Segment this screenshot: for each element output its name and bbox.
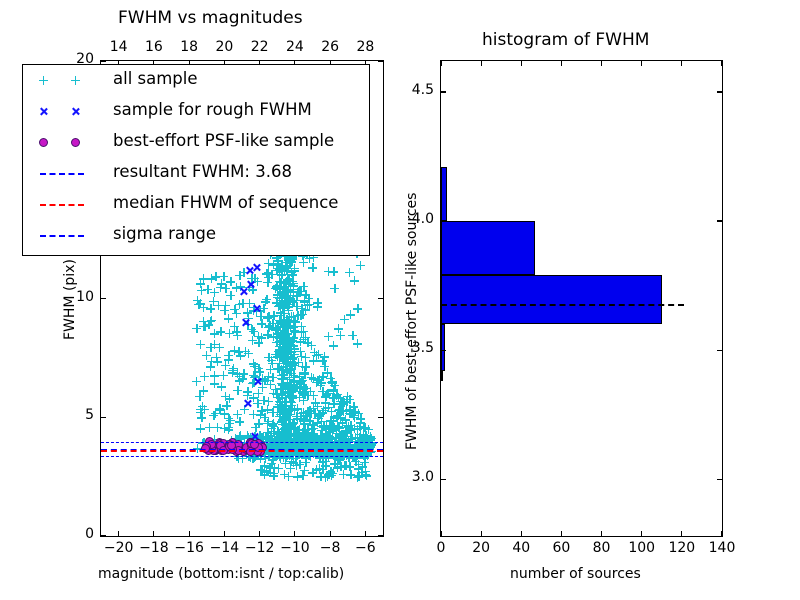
- x-tick-label-bottom: −12: [244, 540, 276, 556]
- all-sample-point: [270, 463, 279, 472]
- all-sample-point: [278, 332, 287, 341]
- all-sample-point: [267, 424, 276, 433]
- all-sample-point: [287, 398, 296, 407]
- x-tick-label-bottom: −14: [208, 540, 240, 556]
- all-sample-point: [353, 433, 362, 442]
- all-sample-point: [286, 296, 295, 305]
- all-sample-point: [260, 470, 269, 479]
- all-sample-point: [286, 347, 295, 356]
- all-sample-point: [280, 424, 289, 433]
- all-sample-point: [278, 432, 287, 441]
- all-sample-point: [341, 426, 350, 435]
- all-sample-point: [290, 266, 299, 275]
- all-sample-point: [294, 436, 303, 445]
- all-sample-point: [277, 371, 286, 380]
- all-sample-point: [315, 464, 324, 473]
- all-sample-point: [321, 473, 330, 482]
- all-sample-point: [285, 429, 294, 438]
- x-tick-label-bottom: −18: [138, 540, 170, 556]
- all-sample-point: [277, 319, 286, 328]
- all-sample-point: [275, 264, 284, 273]
- all-sample-point: [322, 422, 331, 431]
- all-sample-point: [269, 260, 278, 269]
- all-sample-point: [330, 459, 339, 468]
- all-sample-point: [290, 350, 299, 359]
- all-sample-point: [229, 364, 238, 373]
- all-sample-point: [281, 404, 290, 413]
- all-sample-point: [273, 436, 282, 445]
- all-sample-point: [244, 433, 253, 442]
- all-sample-point: [276, 348, 285, 357]
- x-tick-bottom: [224, 531, 225, 536]
- all-sample-point: [249, 393, 258, 402]
- all-sample-point: [277, 270, 286, 279]
- hist-y-tick-right: [717, 220, 722, 221]
- all-sample-point: [285, 437, 294, 446]
- all-sample-point: [278, 374, 287, 383]
- all-sample-point: [280, 297, 289, 306]
- all-sample-point: [282, 320, 291, 329]
- all-sample-point: [302, 411, 311, 420]
- all-sample-point: [282, 439, 291, 448]
- all-sample-point: [268, 359, 277, 368]
- all-sample-point: [331, 433, 340, 442]
- all-sample-point: [340, 432, 349, 441]
- all-sample-point: [282, 277, 291, 286]
- all-sample-point: [285, 436, 294, 445]
- all-sample-point: [322, 429, 331, 438]
- all-sample-point: [308, 468, 317, 477]
- all-sample-point: [300, 415, 309, 424]
- hist-x-tick: [561, 531, 562, 536]
- all-sample-point: [290, 344, 299, 353]
- y-tick-left: [101, 417, 106, 418]
- all-sample-point: [196, 405, 205, 414]
- all-sample-point: [289, 291, 298, 300]
- all-sample-point: [272, 266, 281, 275]
- all-sample-point: [282, 404, 291, 413]
- x-tick-bottom: [365, 531, 366, 536]
- all-sample-point: [328, 393, 337, 402]
- all-sample-point: [288, 391, 297, 400]
- all-sample-point: [278, 415, 287, 424]
- all-sample-point: [322, 432, 331, 441]
- all-sample-point: [284, 385, 293, 394]
- all-sample-point: [283, 389, 292, 398]
- all-sample-point: [310, 348, 319, 357]
- all-sample-point: [301, 425, 310, 434]
- all-sample-point: [249, 359, 258, 368]
- all-sample-point: [362, 471, 371, 480]
- all-sample-point: [323, 389, 332, 398]
- all-sample-point: [281, 331, 290, 340]
- all-sample-point: [256, 312, 265, 321]
- all-sample-point: [313, 418, 322, 427]
- all-sample-point: [196, 299, 205, 308]
- all-sample-point: [285, 298, 294, 307]
- all-sample-point: [338, 418, 347, 427]
- all-sample-point: [317, 417, 326, 426]
- all-sample-point: [328, 469, 337, 478]
- all-sample-point: [275, 397, 284, 406]
- all-sample-point: [289, 358, 298, 367]
- x-tick-label-bottom: −20: [103, 540, 135, 556]
- all-sample-point: [280, 356, 289, 365]
- all-sample-point: [341, 432, 350, 441]
- all-sample-point: [219, 272, 228, 281]
- all-sample-point: [309, 429, 318, 438]
- legend-marker-line: [40, 235, 84, 237]
- all-sample-point: [283, 293, 292, 302]
- all-sample-point: [318, 372, 327, 381]
- all-sample-point: [313, 433, 322, 442]
- all-sample-point: [337, 430, 346, 439]
- all-sample-point: [336, 431, 345, 440]
- all-sample-point: [224, 314, 233, 323]
- all-sample-point: [285, 336, 294, 345]
- all-sample-point: [295, 393, 304, 402]
- all-sample-point: [333, 411, 342, 420]
- all-sample-point: [287, 381, 296, 390]
- all-sample-point: [285, 393, 294, 402]
- all-sample-point: [313, 298, 322, 307]
- all-sample-point: [248, 336, 257, 345]
- all-sample-point: [297, 432, 306, 441]
- all-sample-point: [338, 397, 347, 406]
- all-sample-point: [204, 320, 213, 329]
- figure-canvas: FWHM vs magnitudes −20−18−16−14−12−10−8−…: [0, 0, 800, 600]
- all-sample-point: [225, 394, 234, 403]
- all-sample-point: [299, 408, 308, 417]
- all-sample-point: [197, 413, 206, 422]
- hist-y-tick-label: 4.5: [399, 82, 434, 98]
- all-sample-point: [221, 392, 230, 401]
- all-sample-point: [296, 310, 305, 319]
- all-sample-point: [354, 439, 363, 448]
- x-tick-label-bottom: −8: [314, 540, 346, 556]
- all-sample-point: [294, 358, 303, 367]
- all-sample-point: [266, 365, 275, 374]
- all-sample-point: [348, 331, 357, 340]
- all-sample-point: [345, 425, 354, 434]
- all-sample-point: [207, 357, 216, 366]
- all-sample-point: [309, 424, 318, 433]
- all-sample-point: [355, 422, 364, 431]
- all-sample-point: [269, 427, 278, 436]
- all-sample-point: [286, 366, 295, 375]
- all-sample-point: [285, 313, 294, 322]
- all-sample-point: [254, 338, 263, 347]
- all-sample-point: [302, 436, 311, 445]
- all-sample-point: [342, 429, 351, 438]
- all-sample-point: [297, 328, 306, 337]
- all-sample-point: [303, 391, 312, 400]
- all-sample-point: [207, 316, 216, 325]
- all-sample-point: [356, 418, 365, 427]
- all-sample-point: [279, 404, 288, 413]
- all-sample-point: [304, 433, 313, 442]
- all-sample-point: [355, 433, 364, 442]
- all-sample-point: [224, 414, 233, 423]
- all-sample-point: [294, 428, 303, 437]
- all-sample-point: [335, 456, 344, 465]
- all-sample-point: [249, 453, 258, 462]
- right-xlabel: number of sources: [510, 566, 641, 582]
- all-sample-point: [323, 431, 332, 440]
- all-sample-point: [345, 409, 354, 418]
- all-sample-point: [284, 306, 293, 315]
- all-sample-point: [282, 404, 291, 413]
- all-sample-point: [319, 433, 328, 442]
- all-sample-point: [240, 405, 249, 414]
- all-sample-point: [277, 427, 286, 436]
- all-sample-point: [277, 296, 286, 305]
- all-sample-point: [251, 439, 260, 448]
- all-sample-point: [301, 290, 310, 299]
- all-sample-point: [217, 382, 226, 391]
- all-sample-point: [289, 384, 298, 393]
- all-sample-point: [285, 431, 294, 440]
- all-sample-point: [286, 321, 295, 330]
- y-tick-label: 0: [61, 526, 94, 542]
- all-sample-point: [299, 335, 308, 344]
- all-sample-point: [317, 431, 326, 440]
- psf-like-point: [219, 439, 228, 448]
- y-tick-left: [101, 298, 106, 299]
- all-sample-point: [267, 270, 276, 279]
- all-sample-point: [277, 390, 286, 399]
- all-sample-point: [329, 399, 338, 408]
- all-sample-point: [232, 327, 241, 336]
- all-sample-point: [283, 382, 292, 391]
- hist-y-tick: [441, 91, 446, 92]
- all-sample-point: [279, 315, 288, 324]
- all-sample-point: [199, 303, 208, 312]
- all-sample-point: [250, 373, 259, 382]
- all-sample-point: [279, 282, 288, 291]
- all-sample-point: [196, 408, 205, 417]
- all-sample-point: [299, 425, 308, 434]
- legend-item: sample for rough FWHM: [23, 96, 369, 127]
- all-sample-point: [318, 457, 327, 466]
- all-sample-point: [351, 457, 360, 466]
- all-sample-point: [275, 365, 284, 374]
- all-sample-point: [284, 295, 293, 304]
- all-sample-point: [273, 285, 282, 294]
- all-sample-point: [332, 413, 341, 422]
- all-sample-point: [256, 465, 265, 474]
- all-sample-point: [228, 366, 237, 375]
- all-sample-point: [289, 317, 298, 326]
- all-sample-point: [299, 385, 308, 394]
- all-sample-point: [290, 264, 299, 273]
- legend-label: sigma range: [113, 224, 216, 243]
- all-sample-point: [339, 439, 348, 448]
- all-sample-point: [283, 426, 292, 435]
- all-sample-point: [318, 356, 327, 365]
- all-sample-point: [340, 315, 349, 324]
- all-sample-point: [344, 453, 353, 462]
- x-tick-label-bottom: −6: [349, 540, 381, 556]
- all-sample-point: [287, 361, 296, 370]
- all-sample-point: [334, 423, 343, 432]
- histogram-bar: [441, 167, 447, 221]
- legend-marker-plus: [39, 76, 48, 85]
- all-sample-point: [300, 368, 309, 377]
- all-sample-point: [316, 433, 325, 442]
- hist-x-tick: [681, 531, 682, 536]
- all-sample-point: [316, 431, 325, 440]
- all-sample-point: [271, 284, 280, 293]
- all-sample-point: [303, 338, 312, 347]
- all-sample-point: [276, 384, 285, 393]
- all-sample-point: [312, 378, 321, 387]
- all-sample-point: [329, 393, 338, 402]
- all-sample-point: [341, 415, 350, 424]
- all-sample-point: [238, 299, 247, 308]
- psf-like-point: [234, 440, 243, 449]
- all-sample-point: [274, 464, 283, 473]
- all-sample-point: [198, 402, 207, 411]
- all-sample-point: [284, 420, 293, 429]
- all-sample-point: [279, 351, 288, 360]
- all-sample-point: [279, 365, 288, 374]
- hist-x-tick: [481, 531, 482, 536]
- all-sample-point: [283, 261, 292, 270]
- all-sample-point: [337, 406, 346, 415]
- all-sample-point: [281, 258, 290, 267]
- all-sample-point: [364, 439, 373, 448]
- all-sample-point: [318, 465, 327, 474]
- all-sample-point: [327, 471, 336, 480]
- all-sample-point: [300, 434, 309, 443]
- all-sample-point: [305, 416, 314, 425]
- all-sample-point: [341, 461, 350, 470]
- all-sample-point: [342, 421, 351, 430]
- all-sample-point: [266, 380, 275, 389]
- hist-y-tick: [441, 220, 446, 221]
- all-sample-point: [279, 354, 288, 363]
- hist-x-tick: [601, 531, 602, 536]
- x-tick-bottom: [153, 531, 154, 536]
- all-sample-point: [278, 351, 287, 360]
- all-sample-point: [331, 433, 340, 442]
- all-sample-point: [283, 428, 292, 437]
- all-sample-point: [293, 414, 302, 423]
- all-sample-point: [354, 472, 363, 481]
- all-sample-point: [336, 462, 345, 471]
- all-sample-point: [272, 325, 281, 334]
- all-sample-point: [262, 467, 271, 476]
- all-sample-point: [224, 423, 233, 432]
- all-sample-point: [281, 344, 290, 353]
- all-sample-point: [283, 357, 292, 366]
- all-sample-point: [289, 281, 298, 290]
- all-sample-point: [336, 413, 345, 422]
- all-sample-point: [297, 433, 306, 442]
- all-sample-point: [280, 402, 289, 411]
- all-sample-point: [263, 419, 272, 428]
- all-sample-point: [276, 436, 285, 445]
- all-sample-point: [245, 299, 254, 308]
- all-sample-point: [324, 439, 333, 448]
- all-sample-point: [300, 369, 309, 378]
- all-sample-point: [275, 337, 284, 346]
- all-sample-point: [310, 409, 319, 418]
- hist-y-tick: [441, 479, 446, 480]
- all-sample-point: [329, 416, 338, 425]
- legend-marker-dot: [39, 138, 48, 147]
- all-sample-point: [282, 411, 291, 420]
- all-sample-point: [303, 436, 312, 445]
- all-sample-point: [210, 329, 219, 338]
- all-sample-point: [284, 423, 293, 432]
- all-sample-point: [292, 439, 301, 448]
- all-sample-point: [261, 432, 270, 441]
- all-sample-point: [307, 341, 316, 350]
- all-sample-point: [309, 374, 318, 383]
- all-sample-point: [192, 324, 201, 333]
- all-sample-point: [286, 410, 295, 419]
- all-sample-point: [360, 436, 369, 445]
- all-sample-point: [282, 263, 291, 272]
- all-sample-point: [230, 346, 239, 355]
- all-sample-point: [274, 256, 283, 265]
- all-sample-point: [299, 471, 308, 480]
- all-sample-point: [227, 436, 236, 445]
- all-sample-point: [296, 379, 305, 388]
- all-sample-point: [282, 358, 291, 367]
- all-sample-point: [256, 306, 265, 315]
- all-sample-point: [336, 331, 345, 340]
- all-sample-point: [298, 388, 307, 397]
- all-sample-point: [277, 264, 286, 273]
- all-sample-point: [263, 405, 272, 414]
- all-sample-point: [275, 342, 284, 351]
- all-sample-point: [282, 315, 291, 324]
- all-sample-point: [321, 457, 330, 466]
- all-sample-point: [337, 399, 346, 408]
- all-sample-point: [289, 458, 298, 467]
- all-sample-point: [327, 407, 336, 416]
- all-sample-point: [276, 311, 285, 320]
- all-sample-point: [272, 282, 281, 291]
- all-sample-point: [285, 361, 294, 370]
- all-sample-point: [220, 306, 229, 315]
- sigma-upper-line: [101, 442, 383, 443]
- all-sample-point: [281, 357, 290, 366]
- all-sample-point: [315, 375, 324, 384]
- all-sample-point: [253, 277, 262, 286]
- all-sample-point: [280, 416, 289, 425]
- all-sample-point: [303, 407, 312, 416]
- all-sample-point: [326, 416, 335, 425]
- all-sample-point: [283, 425, 292, 434]
- rough-fwhm-point: [246, 280, 255, 289]
- all-sample-point: [281, 357, 290, 366]
- all-sample-point: [297, 377, 306, 386]
- all-sample-point: [283, 410, 292, 419]
- all-sample-point: [321, 431, 330, 440]
- all-sample-point: [220, 424, 229, 433]
- all-sample-point: [235, 372, 244, 381]
- all-sample-point: [271, 325, 280, 334]
- all-sample-point: [259, 396, 268, 405]
- all-sample-point: [235, 300, 244, 309]
- x-tick-label-bottom: −16: [173, 540, 205, 556]
- all-sample-point: [240, 440, 249, 449]
- all-sample-point: [303, 425, 312, 434]
